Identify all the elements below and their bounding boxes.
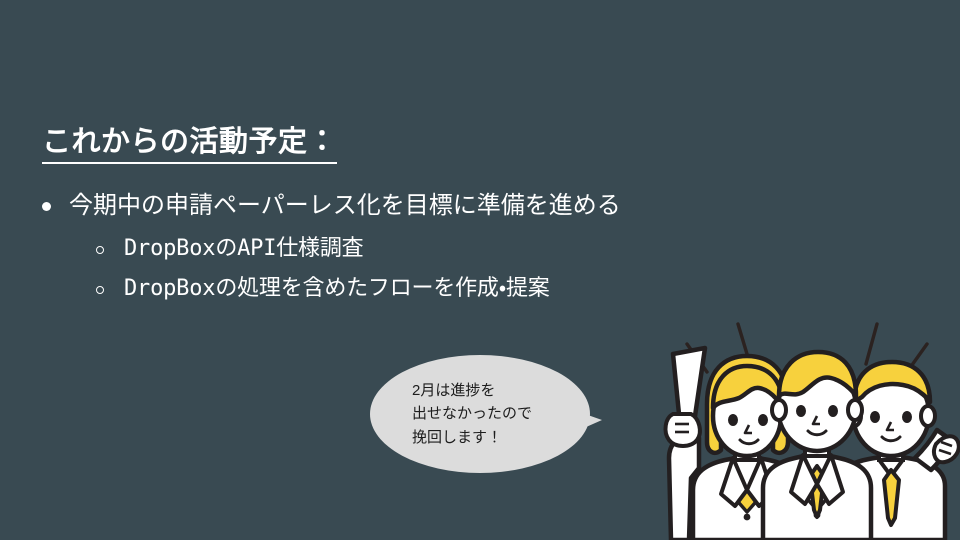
three-people-graphic-icon [655,318,960,540]
list-item-label: 今期中の申請ペーパーレス化を目標に準備を進める [69,190,742,222]
list-item: DropBoxの処理を含めたフローを作成・提案 [42,274,742,304]
bullet-marker-hollow-icon [96,246,104,254]
list-item: 今期中の申請ペーパーレス化を目標に準備を進める [42,190,742,222]
speech-bubble: 2月は進捗を 出せなかったので 挽回します！ [370,355,610,473]
bullet-marker-filled-icon [42,202,51,211]
slide-canvas: これからの活動予定： 今期中の申請ペーパーレス化を目標に準備を進める DropB… [0,0,960,540]
people-illustration [655,318,960,540]
page-title: これからの活動予定： [42,126,337,164]
list-item-label: DropBoxの処理を含めたフローを作成・提案 [124,274,742,304]
list-item-label: DropBoxのAPI仕様調査 [124,234,742,264]
bullet-list: 今期中の申請ペーパーレス化を目標に準備を進める DropBoxのAPI仕様調査 … [42,190,742,314]
speech-bubble-text: 2月は進捗を 出せなかったので 挽回します！ [412,379,532,449]
bullet-marker-hollow-icon [96,286,104,294]
list-item: DropBoxのAPI仕様調査 [42,234,742,264]
